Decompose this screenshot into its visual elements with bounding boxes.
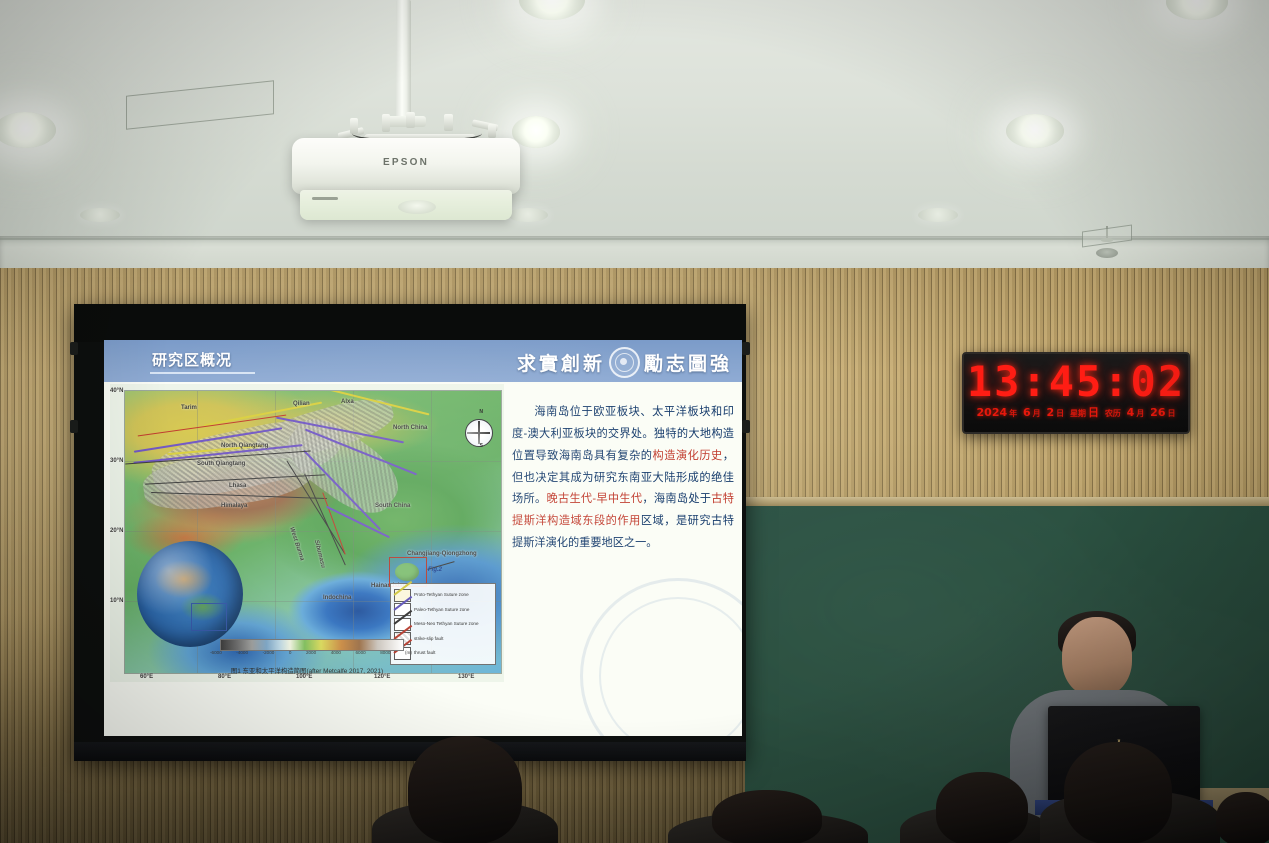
colorbar-tick: -6000 bbox=[210, 650, 222, 655]
colorbar-tick: -4000 bbox=[236, 650, 248, 655]
globe-inset-extent-box bbox=[191, 603, 227, 631]
slide-paragraph: 海南岛位于欧亚板块、太平洋板块和印度-澳大利亚板块的交界处。独特的大地构造位置导… bbox=[512, 402, 734, 555]
screen-bracket bbox=[70, 420, 78, 433]
clock-weekday: 日 bbox=[1088, 406, 1099, 419]
paragraph-text: ，海南岛处于 bbox=[642, 493, 711, 505]
legend-label: Paleo-Tethyan Suture zone bbox=[414, 607, 469, 613]
colorbar-tick: 6000 bbox=[355, 650, 365, 655]
ceiling-downlight bbox=[512, 116, 560, 148]
clock-lunar-day: 26 bbox=[1150, 406, 1165, 419]
audience-head bbox=[712, 790, 822, 843]
compass-south-label: S bbox=[480, 443, 483, 449]
ceiling-edge-line bbox=[0, 238, 1269, 240]
projector-mount-pole bbox=[396, 0, 411, 120]
projector-vent-slot bbox=[312, 197, 338, 200]
clock-lunar-label: 农历 bbox=[1105, 409, 1121, 418]
latitude-tick-label: 40°N bbox=[110, 388, 123, 394]
paragraph-highlight: 构造演化历史 bbox=[653, 450, 723, 462]
clock-time-display: 13:45:02 bbox=[964, 357, 1188, 406]
tectonic-map: Tarim Qilian Alxa North China North Qian… bbox=[124, 390, 502, 674]
colorbar-tick: 8000 bbox=[380, 650, 390, 655]
ceiling-downlight bbox=[80, 208, 120, 222]
projector-body: EPSON bbox=[292, 138, 520, 194]
slide-figure: Tarim Qilian Alxa North China North Qian… bbox=[110, 384, 504, 682]
motto-left-text: 求實創新 bbox=[517, 349, 605, 376]
legend-label: thrust fault bbox=[414, 650, 435, 656]
screen-bracket bbox=[70, 342, 78, 355]
ceiling-downlight bbox=[508, 208, 548, 222]
legend-label: Proto-Tethyan Suture zone bbox=[414, 592, 469, 598]
clock-year: 2024 bbox=[977, 406, 1008, 419]
latitude-tick-label: 30°N bbox=[110, 458, 123, 464]
clock-month-unit: 月 bbox=[1033, 409, 1041, 418]
audience-head bbox=[408, 736, 522, 843]
paragraph-highlight: 晚古生代-早中生代 bbox=[546, 493, 642, 505]
motto-right-text: 勵志圖強 bbox=[644, 349, 732, 376]
slide-body: Tarim Qilian Alxa North China North Qian… bbox=[104, 382, 742, 736]
audience-head bbox=[936, 772, 1028, 843]
screen-bracket bbox=[742, 342, 750, 355]
audience-head bbox=[1064, 742, 1172, 843]
clock-day: 2 bbox=[1046, 406, 1054, 419]
slide-watermark bbox=[580, 578, 742, 736]
university-seal-icon bbox=[609, 347, 640, 378]
colorbar-tick-labels: -6000 -4000 -2000 0 2000 4000 6000 8000 … bbox=[210, 650, 412, 655]
projection-screen-top-valance bbox=[74, 304, 746, 342]
ceiling-sensor bbox=[1096, 248, 1118, 258]
slide-title-underline bbox=[150, 372, 255, 374]
colorbar-tick: -2000 bbox=[263, 650, 275, 655]
slide-header-band: 研究区概况 求實創新 勵志圖強 bbox=[104, 340, 742, 382]
colorbar-tick: 4000 bbox=[331, 650, 341, 655]
projected-slide: 研究区概况 求實創新 勵志圖強 bbox=[104, 340, 742, 736]
legend-swatch-paleo-tethyan bbox=[394, 603, 411, 616]
clock-lunar-day-unit: 日 bbox=[1167, 409, 1175, 418]
compass-north-label: N bbox=[479, 409, 483, 415]
clock-lunar-month-unit: 月 bbox=[1136, 409, 1144, 418]
lecture-hall-photo: EPSON 13:45:02 2024年 6月 2日 星期日 农历 4月 26日… bbox=[0, 0, 1269, 843]
audience-head bbox=[1216, 792, 1269, 843]
colorbar-tick: 2000 bbox=[306, 650, 316, 655]
presenter-head bbox=[1062, 617, 1132, 697]
ceiling bbox=[0, 0, 1269, 268]
colorbar-unit: (m) bbox=[405, 650, 412, 655]
latitude-tick-label: 20°N bbox=[110, 528, 123, 534]
clock-day-unit: 日 bbox=[1056, 409, 1064, 418]
clock-month: 6 bbox=[1023, 406, 1031, 419]
clock-lunar-month: 4 bbox=[1127, 406, 1135, 419]
colorbar-tick: 0 bbox=[289, 650, 292, 655]
chalkboard-top-rail bbox=[745, 497, 1269, 506]
legend-label: Meso-Neo Tethyan Suture zone bbox=[414, 621, 479, 627]
globe-inset bbox=[137, 541, 243, 647]
university-motto: 求實創新 勵志圖強 bbox=[517, 347, 732, 378]
clock-date-display: 2024年 6月 2日 星期日 农历 4月 26日 bbox=[964, 404, 1188, 420]
legend-label: strike-slip fault bbox=[414, 636, 443, 642]
clock-weekday-label: 星期 bbox=[1070, 409, 1086, 418]
figure2-callout-label: Fig.2 bbox=[428, 567, 442, 573]
latitude-tick-label: 10°N bbox=[110, 598, 123, 604]
projection-screen-bottom-bar bbox=[74, 742, 746, 761]
ceiling-downlight bbox=[918, 208, 958, 222]
led-wall-clock: 13:45:02 2024年 6月 2日 星期日 农历 4月 26日 bbox=[962, 352, 1190, 434]
ceiling-downlight bbox=[1006, 114, 1064, 148]
slide-title: 研究区概况 bbox=[152, 349, 232, 370]
projector-brand-label: EPSON bbox=[292, 157, 520, 168]
screen-bracket bbox=[742, 420, 750, 433]
figure-caption: 图1 东亚和太平洋构造简图(after Metcalfe 2017, 2021) bbox=[110, 666, 504, 675]
legend-item: Paleo-Tethyan Suture zone bbox=[394, 603, 492, 616]
projector-lens bbox=[398, 200, 436, 214]
clock-year-unit: 年 bbox=[1009, 409, 1017, 418]
